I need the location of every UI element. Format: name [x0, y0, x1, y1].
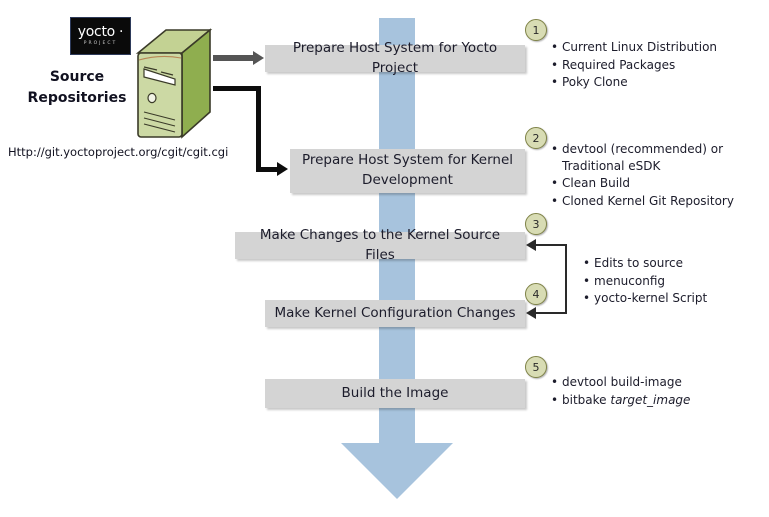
list-item: Current Linux Distribution [551, 39, 761, 56]
list-item: Poky Clone [551, 74, 761, 91]
step-box-2[interactable]: Prepare Host System for Kernel Developme… [290, 149, 525, 193]
server-tower-icon [135, 27, 213, 140]
step-number-1: 1 [525, 19, 547, 41]
step-number-3: 3 [525, 213, 547, 235]
list-item: devtool (recommended) or Traditional eSD… [551, 141, 756, 174]
flow-arrow-head [341, 443, 453, 499]
step-box-3[interactable]: Make Changes to the Kernel Source Files [235, 232, 525, 259]
list-item: Required Packages [551, 57, 761, 74]
yocto-project-logo: yocto · PROJECT [70, 17, 131, 55]
step-5-bullets: devtool build-image bitbake target_image [551, 374, 751, 409]
step-2-bullets: devtool (recommended) or Traditional eSD… [551, 141, 756, 210]
connector-server-to-step1-arrowhead [253, 51, 264, 65]
list-item: Cloned Kernel Git Repository [551, 193, 756, 210]
step-number-2: 2 [525, 127, 547, 149]
step-box-5[interactable]: Build the Image [265, 379, 525, 408]
list-item: menuconfig [583, 273, 758, 290]
list-item: yocto-kernel Script [583, 290, 758, 307]
logo-wordmark: yocto · [78, 25, 123, 39]
list-item: bitbake target_image [551, 392, 751, 409]
diagram-canvas: yocto · PROJECT Source Repositories [0, 0, 769, 517]
bracket-arrowhead-step-3 [526, 239, 536, 251]
connector-server-to-step2-vertical [256, 86, 261, 172]
bracket-vertical-steps-3-4 [565, 244, 567, 314]
connector-server-to-step2-horizontal [213, 86, 261, 91]
source-title-line1: Source [22, 67, 132, 88]
steps-3-4-bullets: Edits to source menuconfig yocto-kernel … [583, 255, 758, 308]
connector-server-to-step1 [213, 55, 255, 61]
source-repositories-title: Source Repositories [22, 67, 132, 109]
list-item: Clean Build [551, 175, 756, 192]
list-item: Edits to source [583, 255, 758, 272]
step-number-4: 4 [525, 283, 547, 305]
list-item-text: devtool build-image [562, 375, 682, 389]
connector-server-to-step2-arrowhead [277, 162, 288, 176]
list-item-emphasis: target_image [610, 393, 690, 407]
source-title-line2: Repositories [22, 88, 132, 109]
list-item-text: bitbake [562, 393, 610, 407]
step-box-4[interactable]: Make Kernel Configuration Changes [265, 300, 525, 327]
bracket-bottom-arm-step-4 [536, 312, 566, 314]
step-box-1[interactable]: Prepare Host System for Yocto Project [265, 45, 525, 72]
source-repository-url: Http://git.yoctoproject.org/cgit/cgit.cg… [8, 145, 228, 159]
bracket-arrowhead-step-4 [526, 307, 536, 319]
bracket-top-arm-step-3 [536, 244, 566, 246]
step-number-5: 5 [525, 356, 547, 378]
step-1-bullets: Current Linux Distribution Required Pack… [551, 39, 761, 92]
list-item: devtool build-image [551, 374, 751, 391]
logo-subtext: PROJECT [84, 40, 117, 47]
